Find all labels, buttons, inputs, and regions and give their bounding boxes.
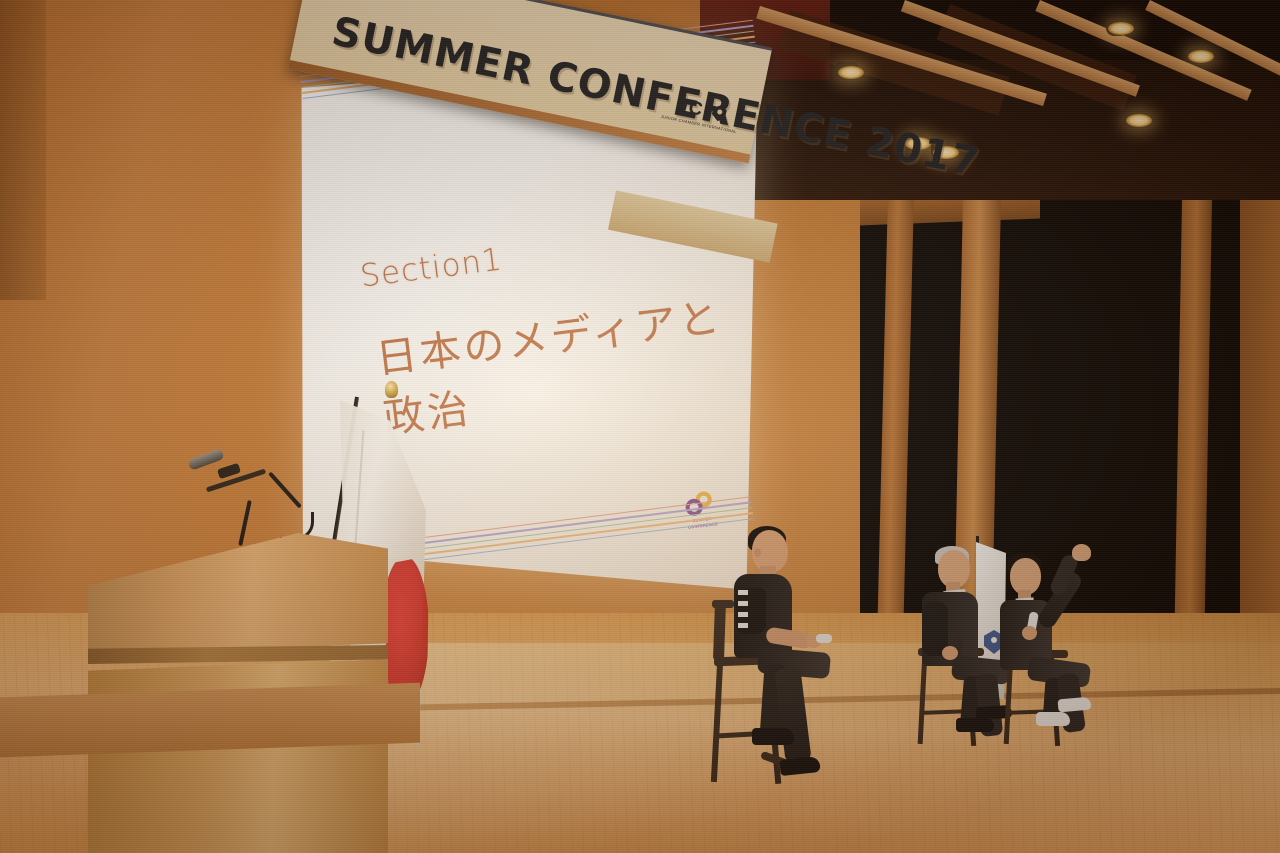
- left-wall-shadow: [0, 0, 46, 300]
- ceiling-spotlight-4: [1108, 22, 1134, 35]
- flag-finial-ornament: [385, 381, 398, 398]
- lectern-top-surface: [88, 533, 388, 653]
- ceiling-spotlight-1: [838, 66, 864, 79]
- handheld-microphone: [816, 634, 832, 643]
- shirt-back-print: [738, 590, 748, 628]
- raised-hand: [1072, 544, 1091, 561]
- ceiling-spotlight-5: [1126, 114, 1152, 127]
- stage-photograph: JCI JUNIOR CHAMBER INTERNATIONAL Section…: [0, 0, 1280, 853]
- jci-emblem-icon: [711, 104, 728, 122]
- architectural-pilaster-4: [1240, 150, 1280, 690]
- ceiling-spotlight-6: [1188, 50, 1214, 63]
- speaker-moderator: [706, 526, 836, 796]
- speaker-young: [1000, 548, 1125, 723]
